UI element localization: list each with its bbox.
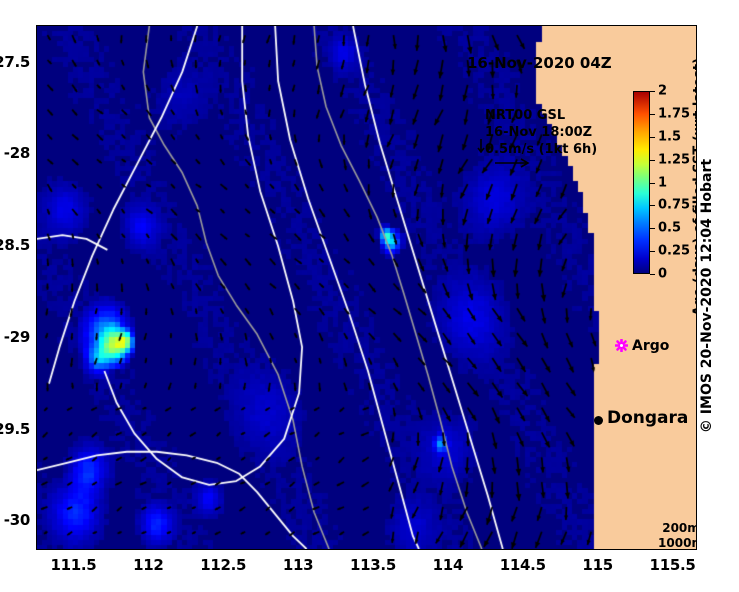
x-axis-tick-label: 113.5 [350,556,396,574]
y-axis-tick-label: -30 [4,511,30,529]
scalebar-label-200m: 200m [647,521,697,536]
credit-text: © IMOS 20-Nov-2020 12:04 Hobart [699,159,715,433]
velocity-tick-arrow-icon [476,139,486,153]
colorbar-tick-label: 1.25 [658,152,690,167]
argo-label: Argo [632,338,669,354]
x-axis-tick-label: 114 [433,556,463,574]
colorbar-title: Age (days) of filled SST (wrt latest) [692,58,698,316]
colorbar-tick [650,114,655,115]
velocity-legend-timestamp: 16-Nov 18:00Z [485,125,592,140]
colorbar-tick-label: 2 [658,84,667,99]
colorbar-tick [650,183,655,184]
dongara-city-marker[interactable] [594,416,603,425]
x-axis-tick-label: 112 [133,556,163,574]
colorbar: Age (days) of filled SST (wrt latest) 00… [633,81,697,301]
sst-age-heatmap-canvas [37,26,696,549]
colorbar-tick [650,228,655,229]
colorbar-tick [650,274,655,275]
argo-float-marker-icon[interactable] [615,339,628,352]
x-axis-tick-label: 113 [283,556,313,574]
dongara-label: Dongara [607,408,688,428]
colorbar-tick [650,205,655,206]
colorbar-gradient [633,91,650,274]
velocity-reference-arrow-icon [495,157,533,169]
x-axis-tick-label: 115.5 [650,556,696,574]
y-axis-tick-label: -28 [4,144,30,162]
y-axis-tick-label: -27.5 [0,53,30,71]
velocity-legend-product: NRT00 GSL [485,108,565,123]
colorbar-tick-label: 0.25 [658,244,690,259]
colorbar-tick-label: 1 [658,175,667,190]
colorbar-tick-label: 0 [658,267,667,282]
scalebar-label-1000m: 1000m [647,536,697,550]
y-axis-tick-label: -29 [4,328,30,346]
colorbar-tick-label: 0.75 [658,198,690,213]
colorbar-tick [650,91,655,92]
colorbar-tick-label: 1.5 [658,129,681,144]
bathymetry-scale-legend: 200m 1000m [647,521,697,550]
colorbar-tick-label: 1.75 [658,106,690,121]
x-axis-tick-label: 112.5 [200,556,246,574]
y-axis-tick-label: -28.5 [0,236,30,254]
map-title-date: 16-Nov-2020 04Z [467,54,612,72]
y-axis-tick-label: -29.5 [0,420,30,438]
map-figure: 16-Nov-2020 04Z NRT00 GSL 16-Nov 18:00Z … [0,0,739,592]
x-axis-tick-label: 115 [582,556,612,574]
velocity-legend-scale: 0.5m/s (1kt 6h) [485,142,597,157]
colorbar-tick [650,137,655,138]
colorbar-tick [650,251,655,252]
colorbar-tick [650,160,655,161]
x-axis-tick-label: 114.5 [500,556,546,574]
colorbar-tick-label: 0.5 [658,221,681,236]
velocity-legend: NRT00 GSL 16-Nov 18:00Z 0.5m/s (1kt 6h) [485,107,597,158]
map-plot-area[interactable]: 16-Nov-2020 04Z NRT00 GSL 16-Nov 18:00Z … [36,25,697,550]
x-axis-tick-label: 111.5 [50,556,96,574]
